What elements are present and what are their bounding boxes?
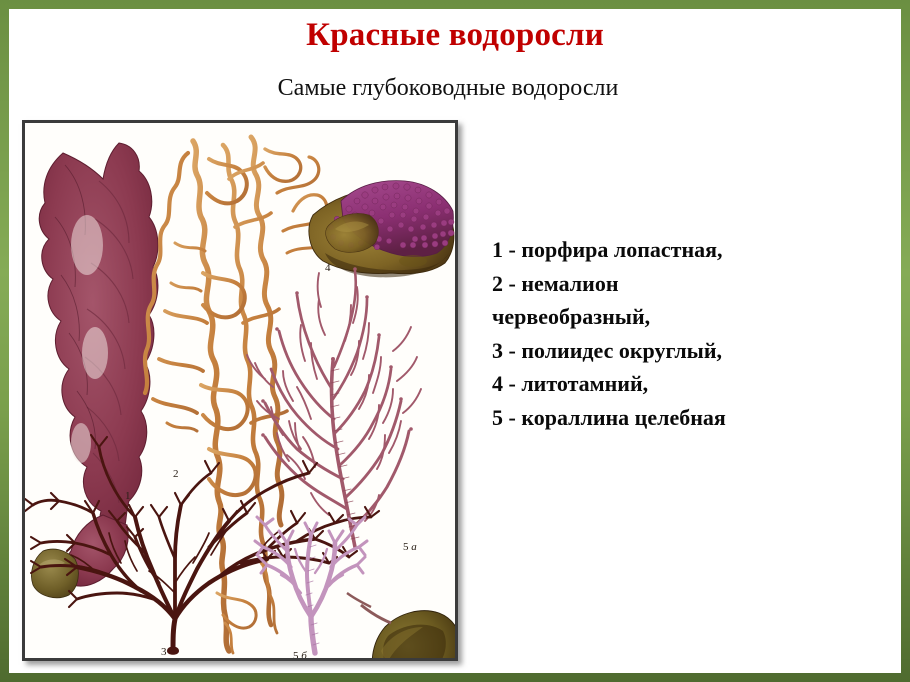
red-algae-plate-image: 1 2 4 3 5 а 5 б [25, 123, 455, 658]
plate-label-5a: 5 а [403, 541, 417, 553]
page-subtitle: Самые глубоководные водоросли [9, 74, 887, 102]
legend-item: 2 - немалион [492, 267, 872, 301]
legend-item: 3 - полиидес округлый, [492, 334, 872, 368]
page-title: Красные водоросли [9, 16, 901, 54]
plate-label-4: 4 [325, 262, 331, 274]
legend-item: червеобразный, [492, 300, 872, 334]
illustration-frame: 1 2 4 3 5 а 5 б [22, 120, 458, 661]
slide-canvas: Красные водоросли Самые глубоководные во… [9, 9, 901, 673]
legend-item: 5 - кораллина целебная [492, 401, 872, 435]
plate-label-2: 2 [173, 468, 179, 480]
slide-green-border: Красные водоросли Самые глубоководные во… [0, 0, 910, 682]
plate-label-5b: 5 б [293, 650, 307, 658]
illustration-plate: 1 2 4 3 5 а 5 б [25, 123, 455, 658]
plate-label-1: 1 [125, 490, 131, 502]
legend-item: 4 - литотамний, [492, 367, 872, 401]
legend-item: 1 - порфира лопастная, [492, 233, 872, 267]
polyides-holdfast [167, 647, 179, 655]
plate-label-3: 3 [161, 646, 167, 658]
legend-list: 1 - порфира лопастная, 2 - немалион черв… [492, 233, 872, 434]
